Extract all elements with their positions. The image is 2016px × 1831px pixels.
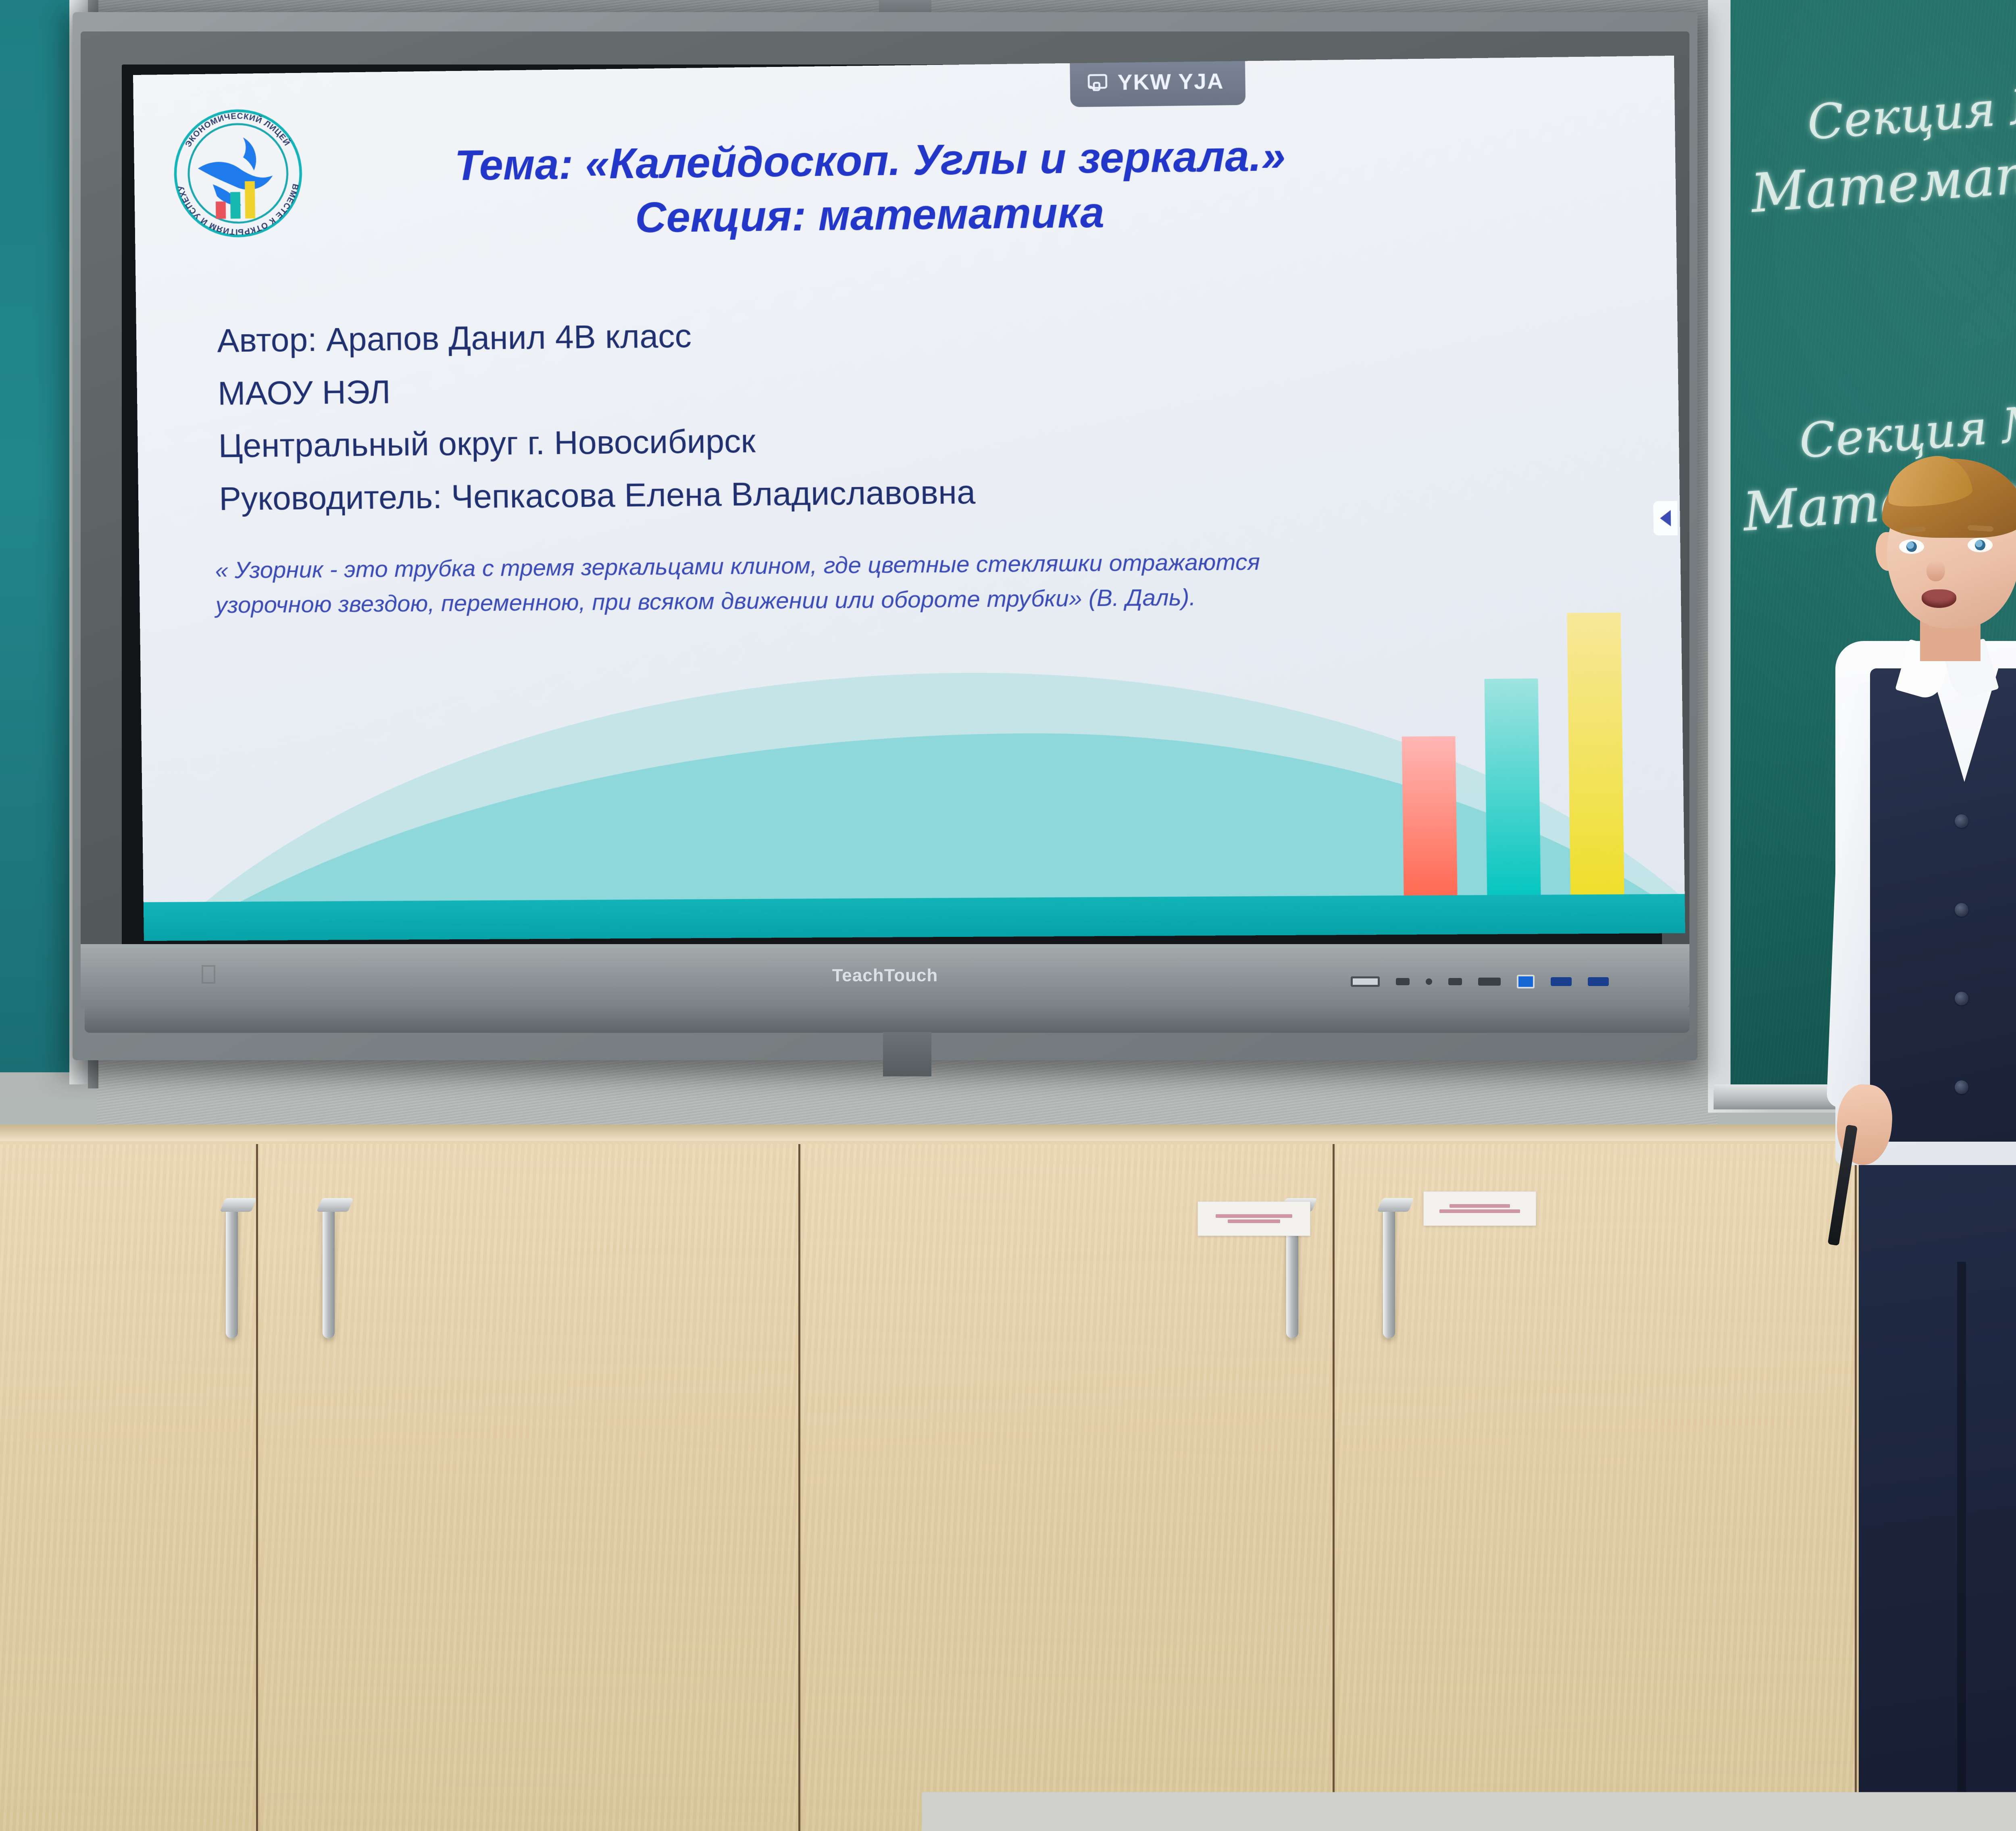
trouser-seam xyxy=(1957,1262,1966,1831)
panel-wall-mount xyxy=(883,1032,931,1076)
port-small-2-icon xyxy=(1448,978,1462,985)
cabinet-top-edge xyxy=(0,1125,2016,1141)
bar-red xyxy=(1402,736,1458,895)
slide-body-district: Центральный округ г. Новосибирск xyxy=(218,410,1435,472)
screen-cast-badge[interactable]: YKW YJA xyxy=(1070,61,1245,107)
panel-brand-label: TeachTouch xyxy=(832,965,938,986)
bar-yellow xyxy=(1567,612,1624,895)
cabinet-label-1 xyxy=(1198,1201,1310,1236)
eye-right xyxy=(1968,538,1993,552)
vest-button-1 xyxy=(1955,814,1968,828)
screen-cast-icon xyxy=(1086,72,1109,94)
hdmi-port-icon xyxy=(1478,978,1501,986)
cast-badge-label: YKW YJA xyxy=(1117,69,1224,95)
cabinet-label-2 xyxy=(1423,1191,1536,1226)
eye-left xyxy=(1899,539,1924,554)
slide-wave-bottom-band xyxy=(144,894,1685,941)
panel-ports xyxy=(1351,975,1609,988)
slide-body-author: Автор: Арапов Данил 4В класс xyxy=(217,303,1433,366)
chalk-section-1: Секция №1 xyxy=(1806,75,2016,150)
panel-corner-marks xyxy=(202,965,215,984)
trousers xyxy=(1859,1125,2016,1831)
presentation-slide[interactable]: ЭКОНОМИЧЕСКИЙ ЛИЦЕЙ ВМЕСТЕ К ОТКРЫТИЯМ И… xyxy=(133,56,1685,941)
port-small-icon xyxy=(1396,978,1410,985)
port-blue-1-icon xyxy=(1551,977,1572,986)
chevron-left-icon[interactable] xyxy=(1653,501,1678,536)
bar-teal xyxy=(1484,678,1541,895)
school-emblem-logo: ЭКОНОМИЧЕСКИЙ ЛИЦЕЙ ВМЕСТЕ К ОТКРЫТИЯМ И… xyxy=(171,106,306,241)
cabinet-door-2[interactable] xyxy=(260,1144,800,1831)
power-led-indicator xyxy=(1517,975,1535,988)
cabinet-door-3[interactable] xyxy=(802,1144,1335,1831)
panel-base xyxy=(85,1007,1689,1033)
cabinet-door-1[interactable] xyxy=(0,1144,258,1831)
slide-body-school: МАОУ НЭЛ xyxy=(217,356,1434,419)
chalk-subject-1: Математика xyxy=(1749,135,2016,225)
navy-vest xyxy=(1870,668,2016,1142)
cabinet-handle-1[interactable] xyxy=(226,1205,238,1338)
port-blue-2-icon xyxy=(1588,977,1609,986)
slide-decor-bars xyxy=(1400,612,1624,895)
nose xyxy=(1926,560,1945,581)
vest-button-4 xyxy=(1955,1080,1968,1094)
slide-body: Автор: Арапов Данил 4В класс МАОУ НЭЛ Це… xyxy=(217,303,1435,526)
cabinet-handle-4[interactable] xyxy=(1383,1205,1395,1338)
usb-port-icon xyxy=(1351,976,1380,987)
page-title: Тема: «Калейдоскоп. Углы и зеркала.» Сек… xyxy=(328,127,1415,248)
classroom-scene: Секция №1 Математика -13:30 Секция №2 Ма… xyxy=(0,0,2016,1831)
cabinet-handle-2[interactable] xyxy=(323,1205,335,1338)
port-dot-icon xyxy=(1426,978,1432,985)
vest-button-3 xyxy=(1955,992,1968,1005)
slide-quote: « Узорник - это трубка с тремя зеркальца… xyxy=(215,543,1382,622)
schoolboy-presenter xyxy=(1766,439,2016,1831)
panel-brand-bar: TeachTouch xyxy=(81,944,1689,1007)
vest-button-2 xyxy=(1955,903,1968,917)
mouth xyxy=(1922,589,1956,608)
slide-body-supervisor: Руководитель: Чепкасова Елена Владиславо… xyxy=(219,463,1435,524)
